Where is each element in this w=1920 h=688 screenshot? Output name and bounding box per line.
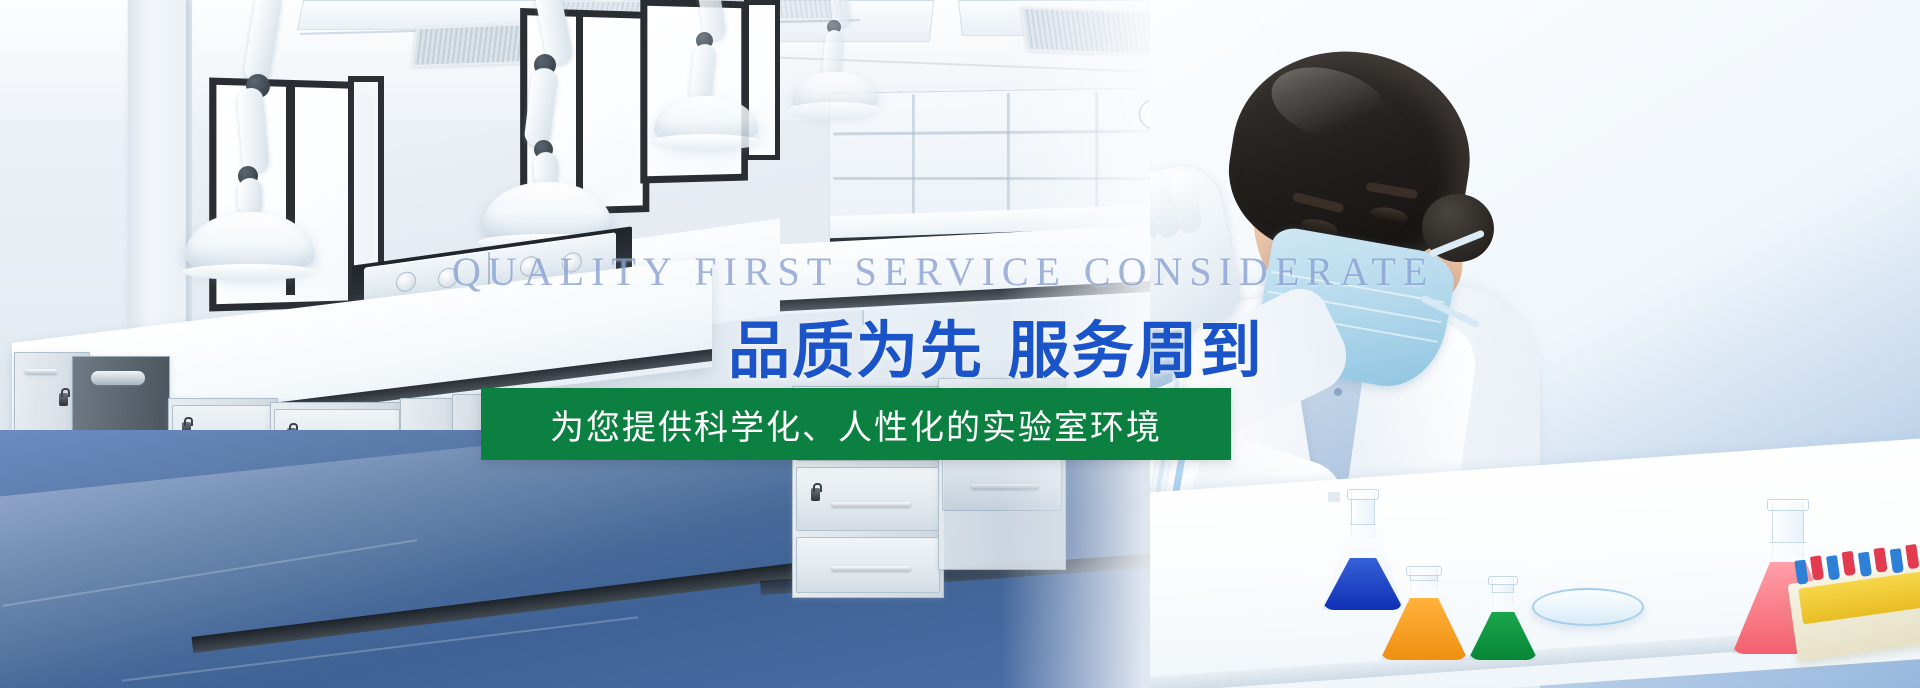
- drawer[interactable]: [796, 537, 940, 593]
- researcher-photo: [1150, 0, 1920, 688]
- drawer[interactable]: [796, 467, 940, 531]
- cabinet-unit: [792, 386, 944, 598]
- orange-flask: [1380, 568, 1468, 660]
- green-flask: [1468, 578, 1538, 660]
- shirt-button: [1334, 388, 1342, 396]
- support-pillar: [128, 0, 186, 345]
- drawer[interactable]: [796, 397, 940, 461]
- window-mullion: [576, 10, 583, 200]
- hero-banner: QUALITY FIRST SERVICE CONSIDERATE 品质为先 服…: [0, 0, 1920, 688]
- petri-dish: [1532, 588, 1644, 626]
